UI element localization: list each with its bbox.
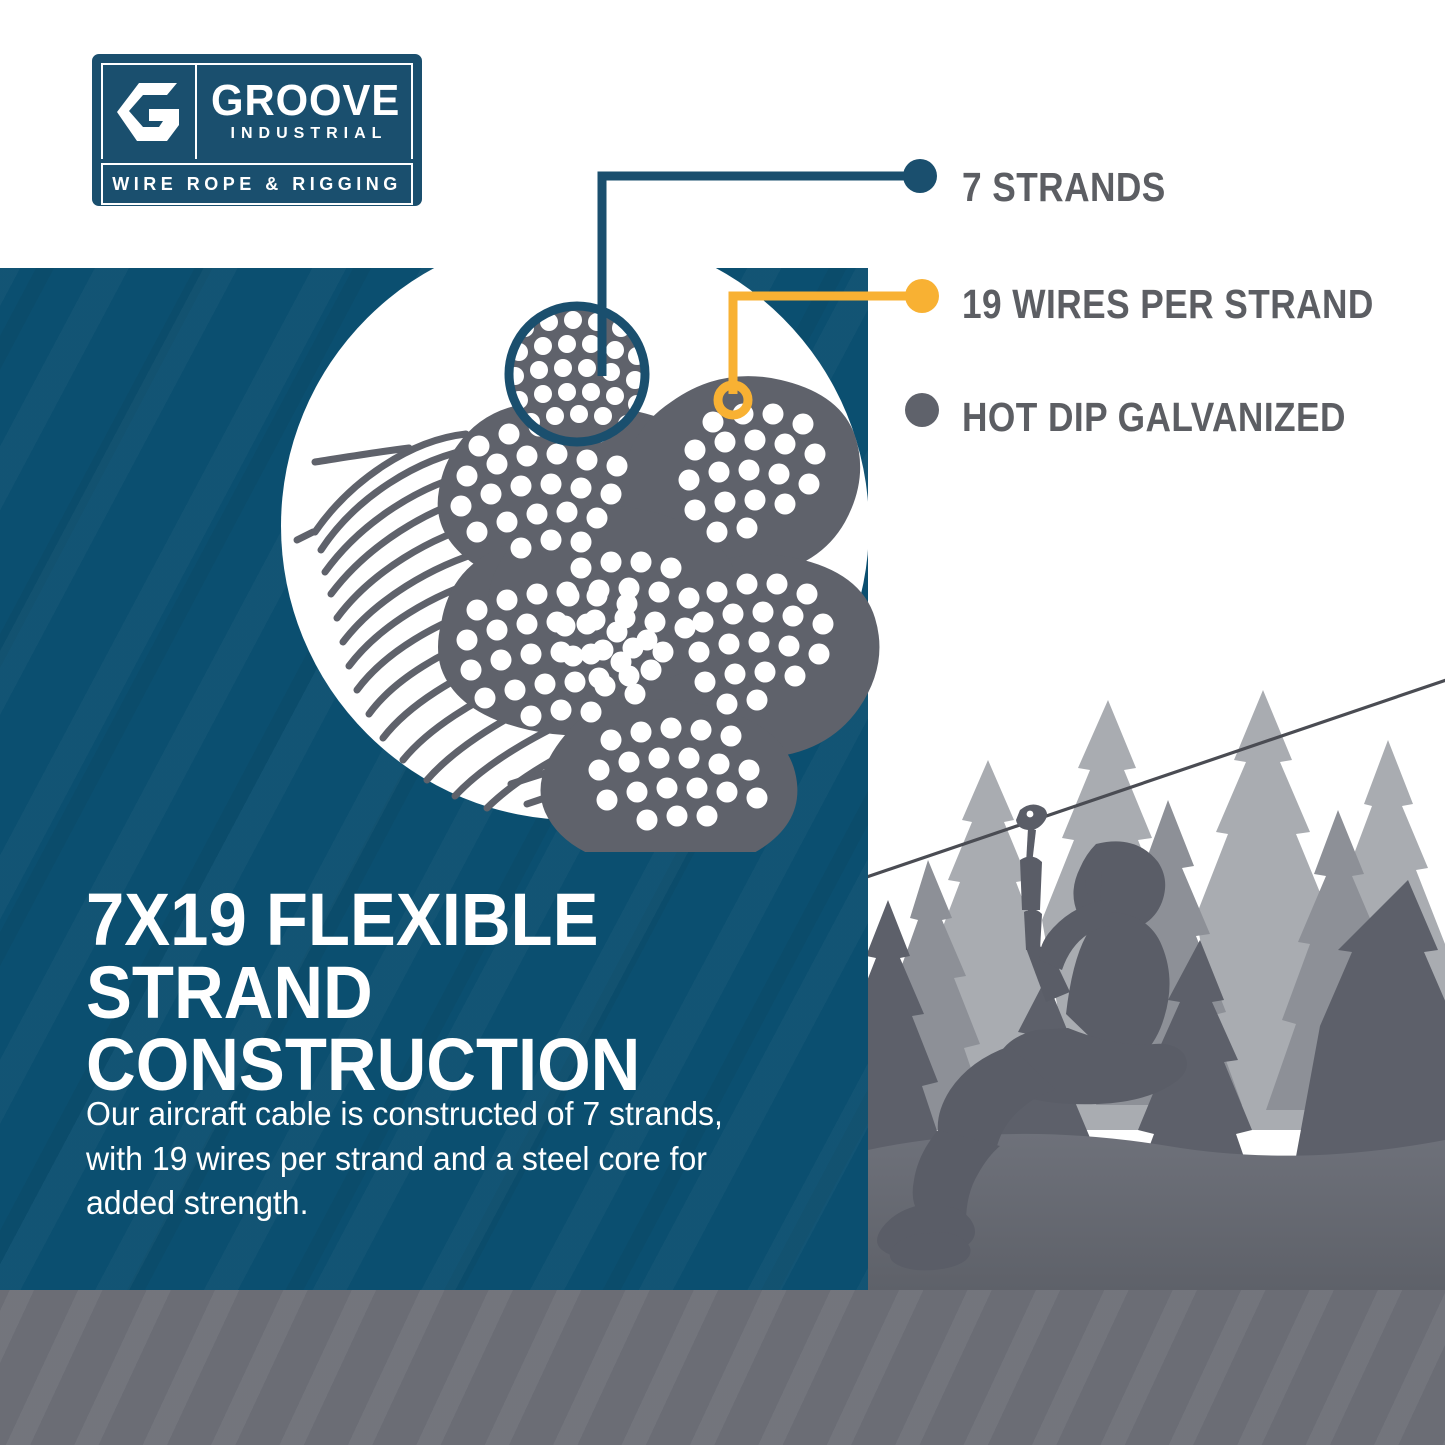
- page-title-line-2: STRAND CONSTRUCTION: [86, 957, 793, 1102]
- logo-wordmark: GROOVE INDUSTRIAL: [197, 65, 411, 159]
- bottom-strip: [0, 1290, 1445, 1445]
- logo-word-industrial: INDUSTRIAL: [225, 125, 388, 143]
- callout-item-galvanized: HOT DIP GALVANIZED: [905, 394, 1408, 441]
- logo-top-section: GROOVE INDUSTRIAL: [101, 63, 413, 159]
- callout-item-wires: 19 WIRES PER STRAND: [905, 281, 1441, 328]
- bottom-strip-texture: [0, 1290, 1445, 1445]
- callout-dot-spacer-wires: [905, 289, 936, 320]
- logo-tagline: WIRE ROPE & RIGGING: [112, 174, 402, 195]
- callout-list: 7 STRANDS 19 WIRES PER STRAND HOT DIP GA…: [890, 0, 1410, 470]
- callout-label-wires: 19 WIRES PER STRAND: [962, 281, 1374, 328]
- connector-line-strands: [602, 176, 906, 376]
- page-title: 7X19 FLEXIBLE STRAND CONSTRUCTION: [86, 884, 793, 1102]
- callout-dot-spacer-strands: [905, 172, 936, 203]
- callout-item-strands: 7 STRANDS: [905, 164, 1199, 211]
- body-paragraph: Our aircraft cable is constructed of 7 s…: [86, 1092, 726, 1226]
- logo-word-groove: GROOVE: [211, 81, 400, 121]
- infographic-canvas: GROOVE INDUSTRIAL WIRE ROPE & RIGGING 7 …: [0, 0, 1445, 1445]
- callout-label-strands: 7 STRANDS: [962, 164, 1166, 211]
- groove-g-mark-icon: [103, 65, 197, 159]
- callout-dot-spacer-galvanized: [905, 402, 936, 433]
- page-title-line-1: 7X19 FLEXIBLE: [86, 884, 793, 957]
- connector-line-wires: [733, 296, 906, 394]
- connector-ring-wires: [718, 385, 748, 415]
- callout-label-galvanized: HOT DIP GALVANIZED: [962, 394, 1346, 441]
- logo-tagline-bar: WIRE ROPE & RIGGING: [101, 163, 413, 205]
- brand-logo[interactable]: GROOVE INDUSTRIAL WIRE ROPE & RIGGING: [92, 54, 422, 206]
